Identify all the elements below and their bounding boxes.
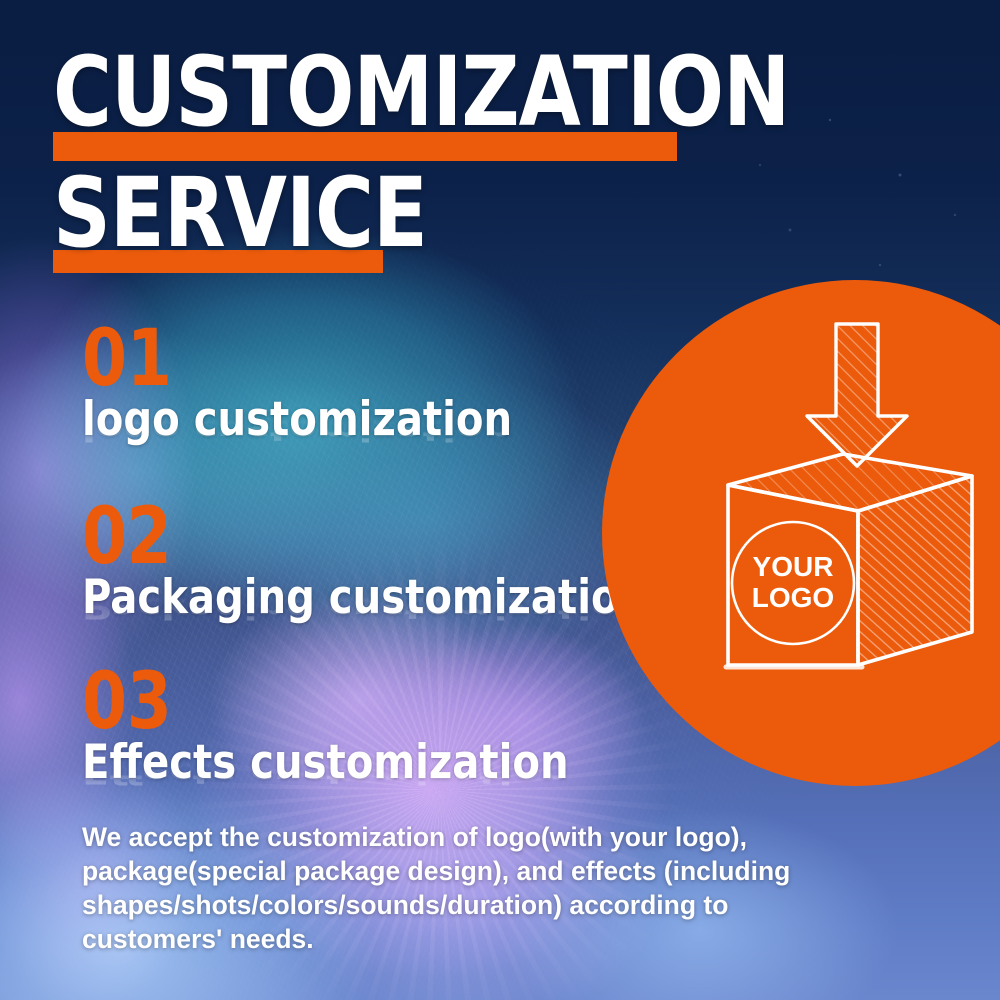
poster-content: CUSTOMIZATION SERVICE 01 logo customizat… <box>0 0 1000 1000</box>
body-paragraph: We accept the customization of logo(with… <box>82 820 852 956</box>
arrow-down-icon <box>807 324 907 466</box>
title-line-secondary: SERVICE <box>53 167 789 259</box>
service-item-02: 02 Packaging customization Packaging cus… <box>82 500 677 670</box>
promotional-poster: CUSTOMIZATION SERVICE 01 logo customizat… <box>0 0 1000 1000</box>
logo-placeholder-line-1: YOUR <box>753 551 834 582</box>
poster-title: CUSTOMIZATION SERVICE <box>53 46 845 273</box>
package-box-illustration: YOUR LOGO <box>600 280 1000 790</box>
service-item-number: 03 <box>82 665 553 739</box>
logo-placeholder-line-2: LOGO <box>752 582 834 613</box>
service-item-label: Packaging customization <box>82 574 647 622</box>
service-item-01: 01 logo customization logo customization <box>82 322 535 492</box>
service-item-03: 03 Effects customization Effects customi… <box>82 665 594 835</box>
title-line-primary: CUSTOMIZATION <box>53 46 789 138</box>
service-item-number: 02 <box>82 500 629 574</box>
service-item-label: Effects customization <box>82 739 569 787</box>
service-item-number: 01 <box>82 322 499 396</box>
service-item-label: logo customization <box>82 396 512 444</box>
